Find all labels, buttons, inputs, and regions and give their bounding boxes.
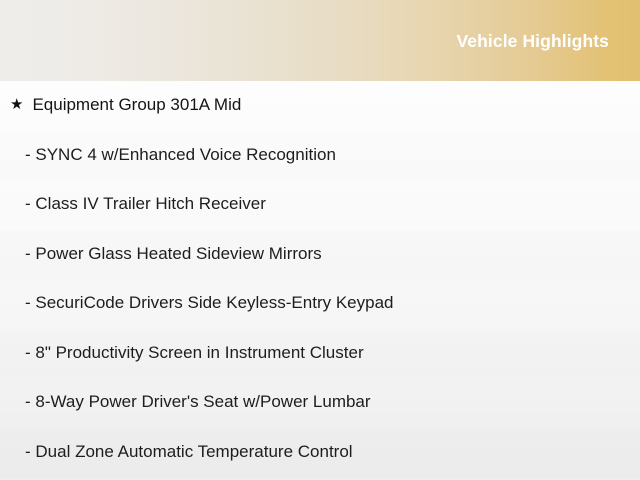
list-item: - Power Glass Heated Sideview Mirrors — [0, 230, 640, 280]
list-item: - SYNC 4 w/Enhanced Voice Recognition — [0, 131, 640, 181]
list-item: - SecuriCode Drivers Side Keyless-Entry … — [0, 279, 640, 329]
list-item-label: - 8" Productivity Screen in Instrument C… — [25, 344, 364, 363]
list-item-label: - Power Glass Heated Sideview Mirrors — [25, 245, 322, 264]
vehicle-highlights-list: ★ Equipment Group 301A Mid - SYNC 4 w/En… — [0, 81, 640, 480]
list-item: - 8-Way Power Driver's Seat w/Power Lumb… — [0, 378, 640, 428]
list-item: - Class IV Trailer Hitch Receiver — [0, 180, 640, 230]
list-item: - 8" Productivity Screen in Instrument C… — [0, 329, 640, 379]
page-header-banner: Vehicle Highlights — [0, 0, 640, 81]
vehicle-highlights-page: Vehicle Highlights ★ Equipment Group 301… — [0, 0, 640, 480]
list-item-label: - SecuriCode Drivers Side Keyless-Entry … — [25, 294, 393, 313]
star-icon: ★ — [10, 97, 23, 112]
list-item-label: - SYNC 4 w/Enhanced Voice Recognition — [25, 146, 336, 165]
list-item-label: - 8-Way Power Driver's Seat w/Power Lumb… — [25, 393, 371, 412]
page-title: Vehicle Highlights — [456, 31, 609, 51]
list-item-label: - Class IV Trailer Hitch Receiver — [25, 195, 266, 214]
list-item-label: Equipment Group 301A Mid — [32, 96, 241, 115]
list-item: ★ Equipment Group 301A Mid — [0, 81, 640, 131]
list-item: - Dual Zone Automatic Temperature Contro… — [0, 428, 640, 478]
list-item-label: - Dual Zone Automatic Temperature Contro… — [25, 443, 353, 462]
